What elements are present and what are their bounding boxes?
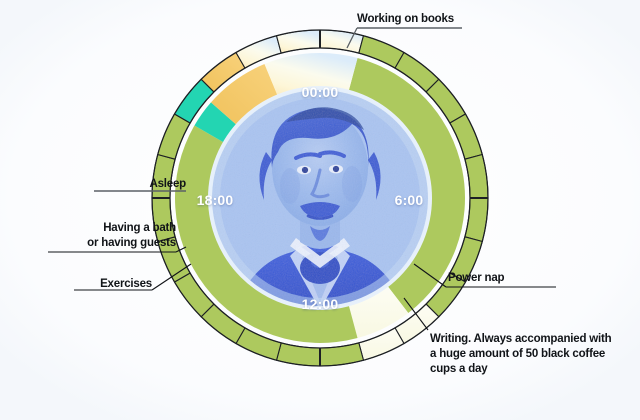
clock-label-0000: 00:00: [302, 84, 339, 100]
clock-label-1200: 12:00: [302, 296, 339, 312]
clock-label-1800: 18:00: [197, 192, 234, 208]
callout-label-bath-line1: Having a bath: [48, 221, 176, 236]
callout-label-working-on-books: Working on books: [357, 12, 454, 27]
callout-label-writing-line1: Writing. Always accompanied with: [430, 332, 630, 347]
callout-label-writing-line2: a huge amount of 50 black coffee: [430, 347, 630, 362]
callout-label-writing-line3: cups a day: [430, 362, 630, 377]
callout-label-exercises: Exercises: [62, 277, 152, 292]
callout-label-writing: Writing. Always accompanied with a huge …: [430, 332, 630, 377]
callout-label-bath: Having a bath or having guests: [48, 221, 176, 251]
clock-label-0600: 6:00: [395, 192, 424, 208]
callout-label-bath-line2: or having guests: [48, 236, 176, 251]
callout-label-asleep: Asleep: [96, 177, 186, 192]
callout-label-power-nap: Power nap: [448, 271, 504, 286]
infographic-canvas: 00:00 6:00 12:00 18:00 Working on books …: [0, 0, 640, 420]
